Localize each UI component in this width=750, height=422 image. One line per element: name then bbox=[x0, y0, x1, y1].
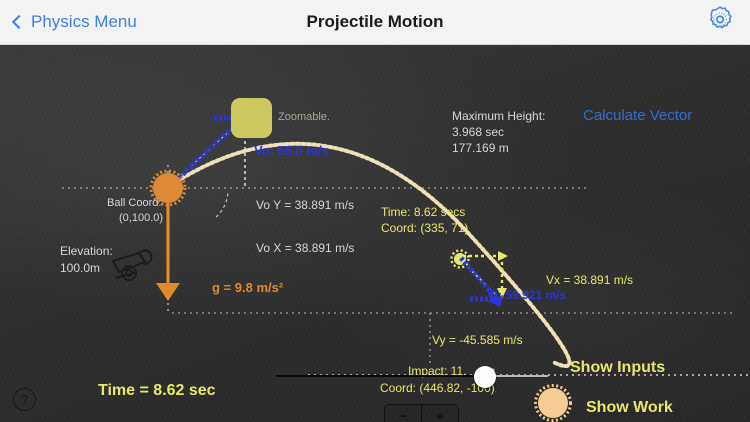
trajectory-path bbox=[168, 144, 569, 366]
back-button-label: Physics Menu bbox=[31, 12, 137, 32]
back-button[interactable]: Physics Menu bbox=[14, 12, 137, 32]
time-slider-knob[interactable] bbox=[474, 366, 496, 388]
launch-ball bbox=[153, 173, 183, 203]
time-stepper[interactable]: − + bbox=[384, 404, 459, 422]
time-slider[interactable] bbox=[276, 367, 548, 385]
stepper-increment-button[interactable]: + bbox=[422, 405, 458, 422]
gear-icon[interactable] bbox=[706, 6, 734, 39]
chevron-left-icon bbox=[12, 15, 26, 29]
help-button[interactable]: ? bbox=[13, 388, 36, 411]
cannon-icon bbox=[113, 250, 151, 280]
simulation-canvas[interactable]: Zoomable. Maximum Height: 3.968 sec 177.… bbox=[0, 45, 750, 422]
show-inputs-button[interactable]: Show Inputs bbox=[570, 359, 665, 377]
gravity-vector-arrowhead bbox=[156, 283, 180, 301]
vi-vector-arrow bbox=[461, 258, 497, 299]
projectile-motion-app: Physics Menu Projectile Motion bbox=[0, 0, 750, 422]
launch-angle-arc bbox=[216, 191, 228, 217]
time-slider-track-remaining bbox=[487, 375, 548, 377]
time-slider-track-filled bbox=[276, 375, 487, 377]
stepper-decrement-button[interactable]: − bbox=[385, 405, 422, 422]
calculate-vector-button[interactable]: Calculate Vector bbox=[583, 107, 692, 124]
show-work-button[interactable]: Show Work bbox=[586, 399, 673, 417]
app-header: Physics Menu Projectile Motion bbox=[0, 0, 750, 45]
impact-ball bbox=[538, 388, 568, 418]
zoomable-color-swatch[interactable] bbox=[231, 98, 272, 138]
